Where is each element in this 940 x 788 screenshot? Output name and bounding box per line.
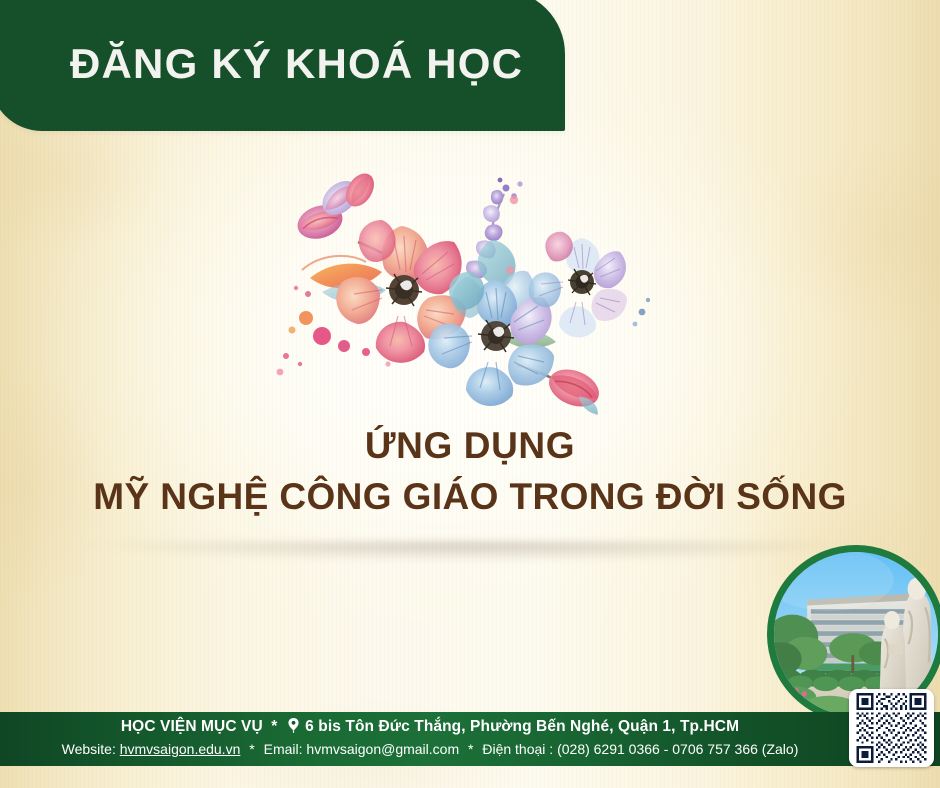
phone-label: Điện thoại : — [482, 741, 553, 757]
map-pin-icon — [288, 718, 299, 738]
title-line-2: MỸ NGHỆ CÔNG GIÁO TRONG ĐỜI SỐNG — [0, 472, 940, 522]
website-label: Website: — [62, 741, 116, 757]
watercolor-floral-bouquet-illustration — [262, 160, 662, 430]
footer-separator-3: * — [463, 741, 478, 757]
header-banner: ĐĂNG KÝ KHOÁ HỌC — [0, 0, 565, 131]
website-link[interactable]: hvmvsaigon.edu.vn — [120, 741, 241, 757]
header-title: ĐĂNG KÝ KHOÁ HỌC — [0, 34, 523, 88]
phone-value[interactable]: (028) 6291 0366 - 0706 757 366 (Zalo) — [557, 741, 798, 757]
main-title-block: ỨNG DỤNG MỸ NGHỆ CÔNG GIÁO TRONG ĐỜI SỐN… — [0, 424, 940, 522]
footer-contact-bar: HỌC VIỆN MỤC VỤ * 6 bis Tôn Đức Thắng, P… — [0, 712, 940, 766]
footer-line-organization: HỌC VIỆN MỤC VỤ * 6 bis Tôn Đức Thắng, P… — [0, 718, 860, 738]
poster-canvas: ĐĂNG KÝ KHOÁ HỌC — [0, 0, 940, 788]
title-shadow-band — [55, 542, 885, 568]
footer-separator-2: * — [244, 741, 259, 757]
email-label: Email: — [264, 741, 303, 757]
organization-name: HỌC VIỆN MỤC VỤ — [121, 718, 263, 735]
title-line-1: ỨNG DỤNG — [0, 424, 940, 468]
qr-code[interactable] — [849, 689, 934, 767]
footer-separator-1: * — [267, 718, 281, 735]
footer-line-contacts: Website: hvmvsaigon.edu.vn * Email: hvmv… — [0, 741, 860, 757]
address-text: 6 bis Tôn Đức Thắng, Phường Bến Nghé, Qu… — [305, 718, 739, 735]
email-value[interactable]: hvmvsaigon@gmail.com — [306, 741, 459, 757]
